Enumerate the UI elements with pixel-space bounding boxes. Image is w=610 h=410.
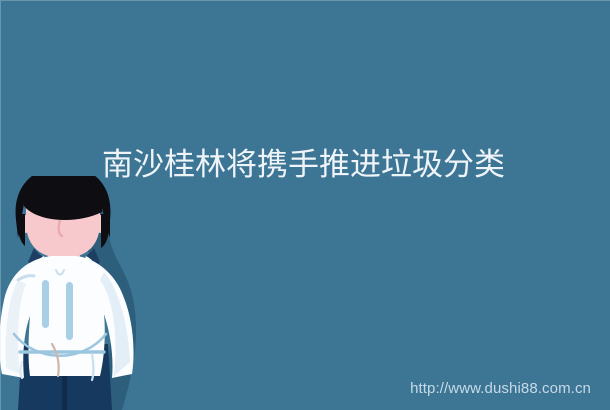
drawstring-right bbox=[66, 282, 73, 340]
headline-text: 南沙桂林将携手推进垃圾分类 bbox=[102, 146, 522, 186]
hem-crease-left bbox=[21, 362, 23, 378]
watermark-url: http://www.dushi88.com.cn bbox=[410, 380, 591, 398]
news-banner: 南沙桂林将携手推进垃圾分类 http://www.dushi88.com.cn bbox=[0, 0, 610, 410]
character-illustration bbox=[0, 176, 170, 410]
drawstring-left bbox=[42, 280, 49, 328]
